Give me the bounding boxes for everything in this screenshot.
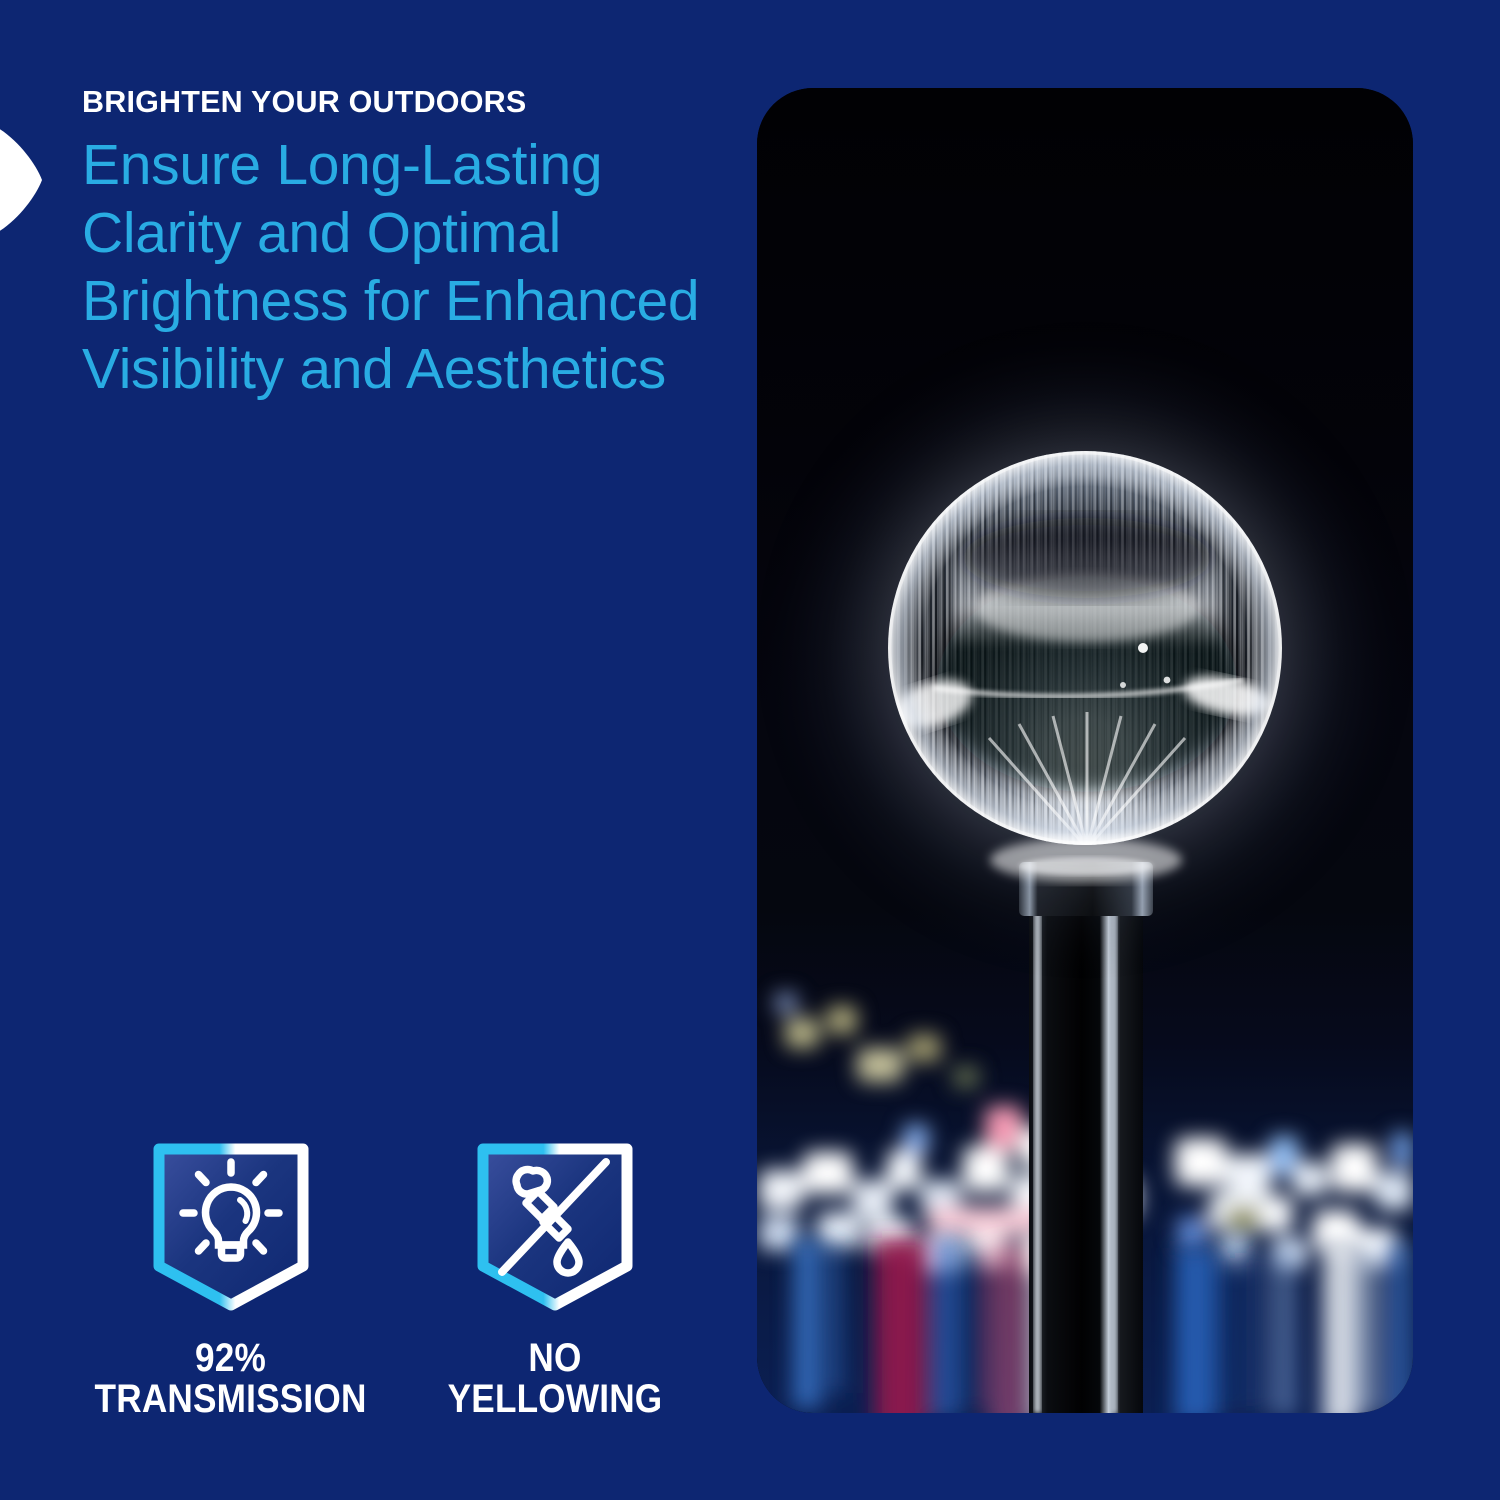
badge-caption: NO YELLOWING <box>448 1338 663 1420</box>
feature-badge: NO YELLOWING <box>464 1138 646 1420</box>
badge-caption-line2: TRANSMISSION <box>95 1379 367 1420</box>
copy-block: BRIGHTEN YOUR OUTDOORS Ensure Long-Lasti… <box>82 86 702 403</box>
lightbulb-rays-shield-icon <box>148 1138 314 1316</box>
pointer-notch-shape <box>0 128 42 232</box>
page-title: Ensure Long-Lasting Clarity and Optimal … <box>82 132 702 403</box>
promo-banner: BRIGHTEN YOUR OUTDOORS Ensure Long-Lasti… <box>0 0 1500 1500</box>
feature-badge-group: 92% TRANSMISSION <box>140 1138 646 1420</box>
badge-caption-line1: NO <box>448 1338 663 1379</box>
feature-badge: 92% TRANSMISSION <box>140 1138 322 1420</box>
solar-globe-lamp-night-photo <box>757 88 1413 1413</box>
eyebrow-text: BRIGHTEN YOUR OUTDOORS <box>82 86 702 118</box>
badge-caption: 92% TRANSMISSION <box>95 1338 367 1420</box>
badge-caption-line2: YELLOWING <box>448 1379 663 1420</box>
no-dropper-shield-icon <box>472 1138 638 1316</box>
badge-caption-line1: 92% <box>95 1338 367 1379</box>
